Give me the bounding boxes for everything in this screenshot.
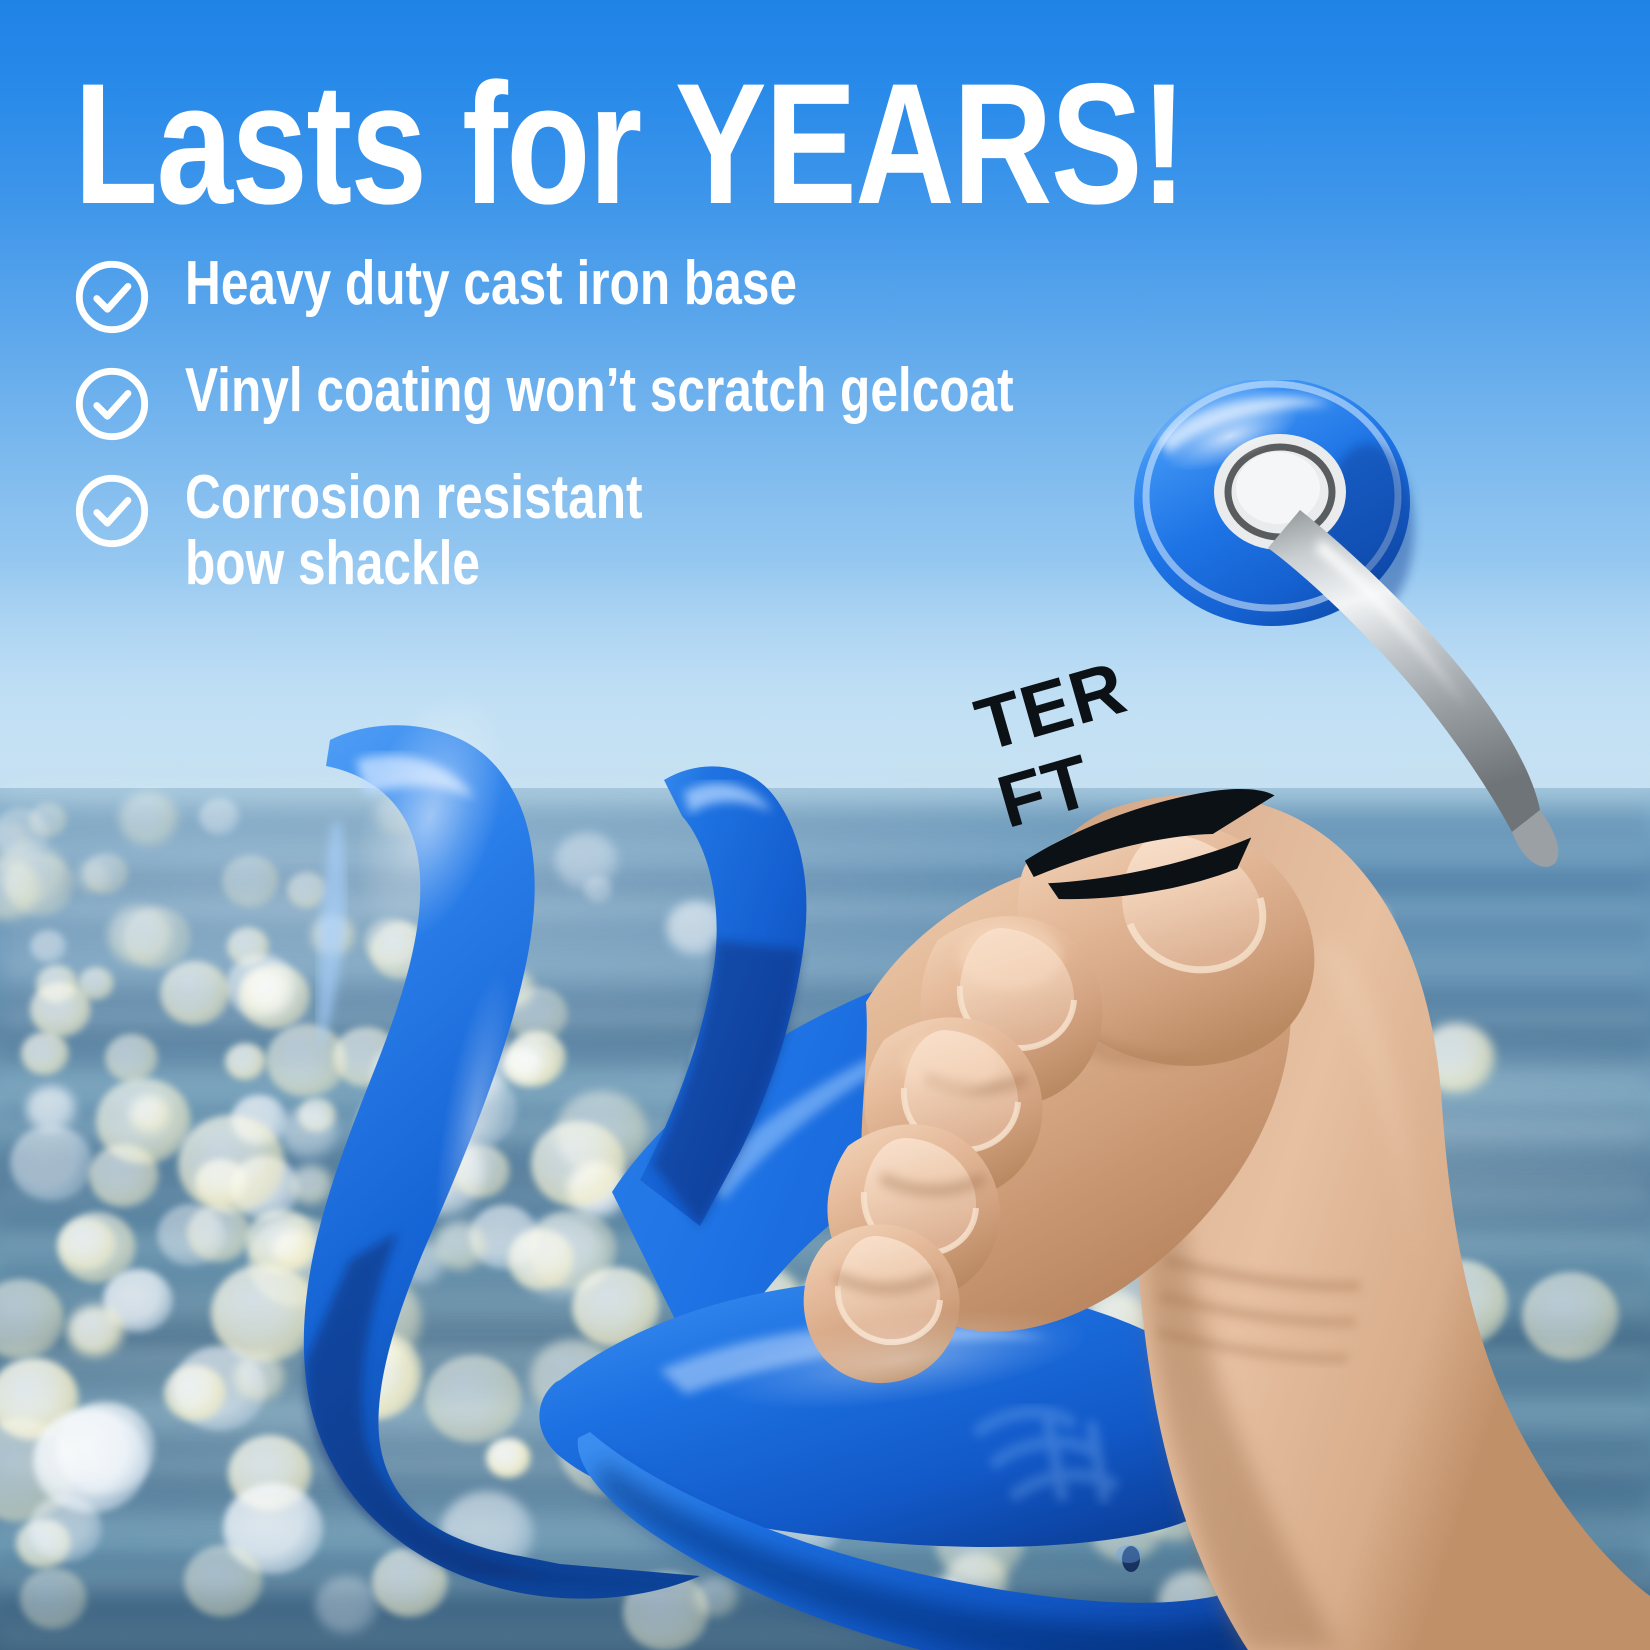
page-title: Lasts for YEARS! — [74, 58, 1185, 230]
list-item-label: Heavy duty cast iron base — [185, 251, 797, 317]
anchor-left-highlight-2 — [318, 820, 346, 1052]
promo-image: TER FT Lasts for YEARS! Heavy duty cast … — [0, 0, 1650, 1650]
list-item-label-line-2: bow shackle — [185, 529, 480, 598]
list-item: Corrosion resistant bow shackle — [74, 469, 1274, 649]
check-circle-icon — [74, 366, 150, 442]
list-item: Heavy duty cast iron base — [74, 255, 1274, 362]
knuckle-highlight-2 — [902, 1034, 998, 1094]
list-item-label: Corrosion resistant bow shackle — [185, 465, 643, 598]
anchor-vent-hole-rim — [1116, 1545, 1142, 1563]
check-circle-icon — [74, 473, 150, 549]
feature-list: Heavy duty cast iron base Vinyl coating … — [74, 255, 1274, 649]
list-item-label: Vinyl coating won’t scratch gelcoat — [185, 358, 1014, 424]
check-circle-icon — [74, 259, 150, 335]
knuckle-highlight-1 — [958, 922, 1062, 990]
list-item: Vinyl coating won’t scratch gelcoat — [74, 362, 1274, 469]
list-item-label-line-1: Corrosion resistant — [185, 463, 643, 532]
